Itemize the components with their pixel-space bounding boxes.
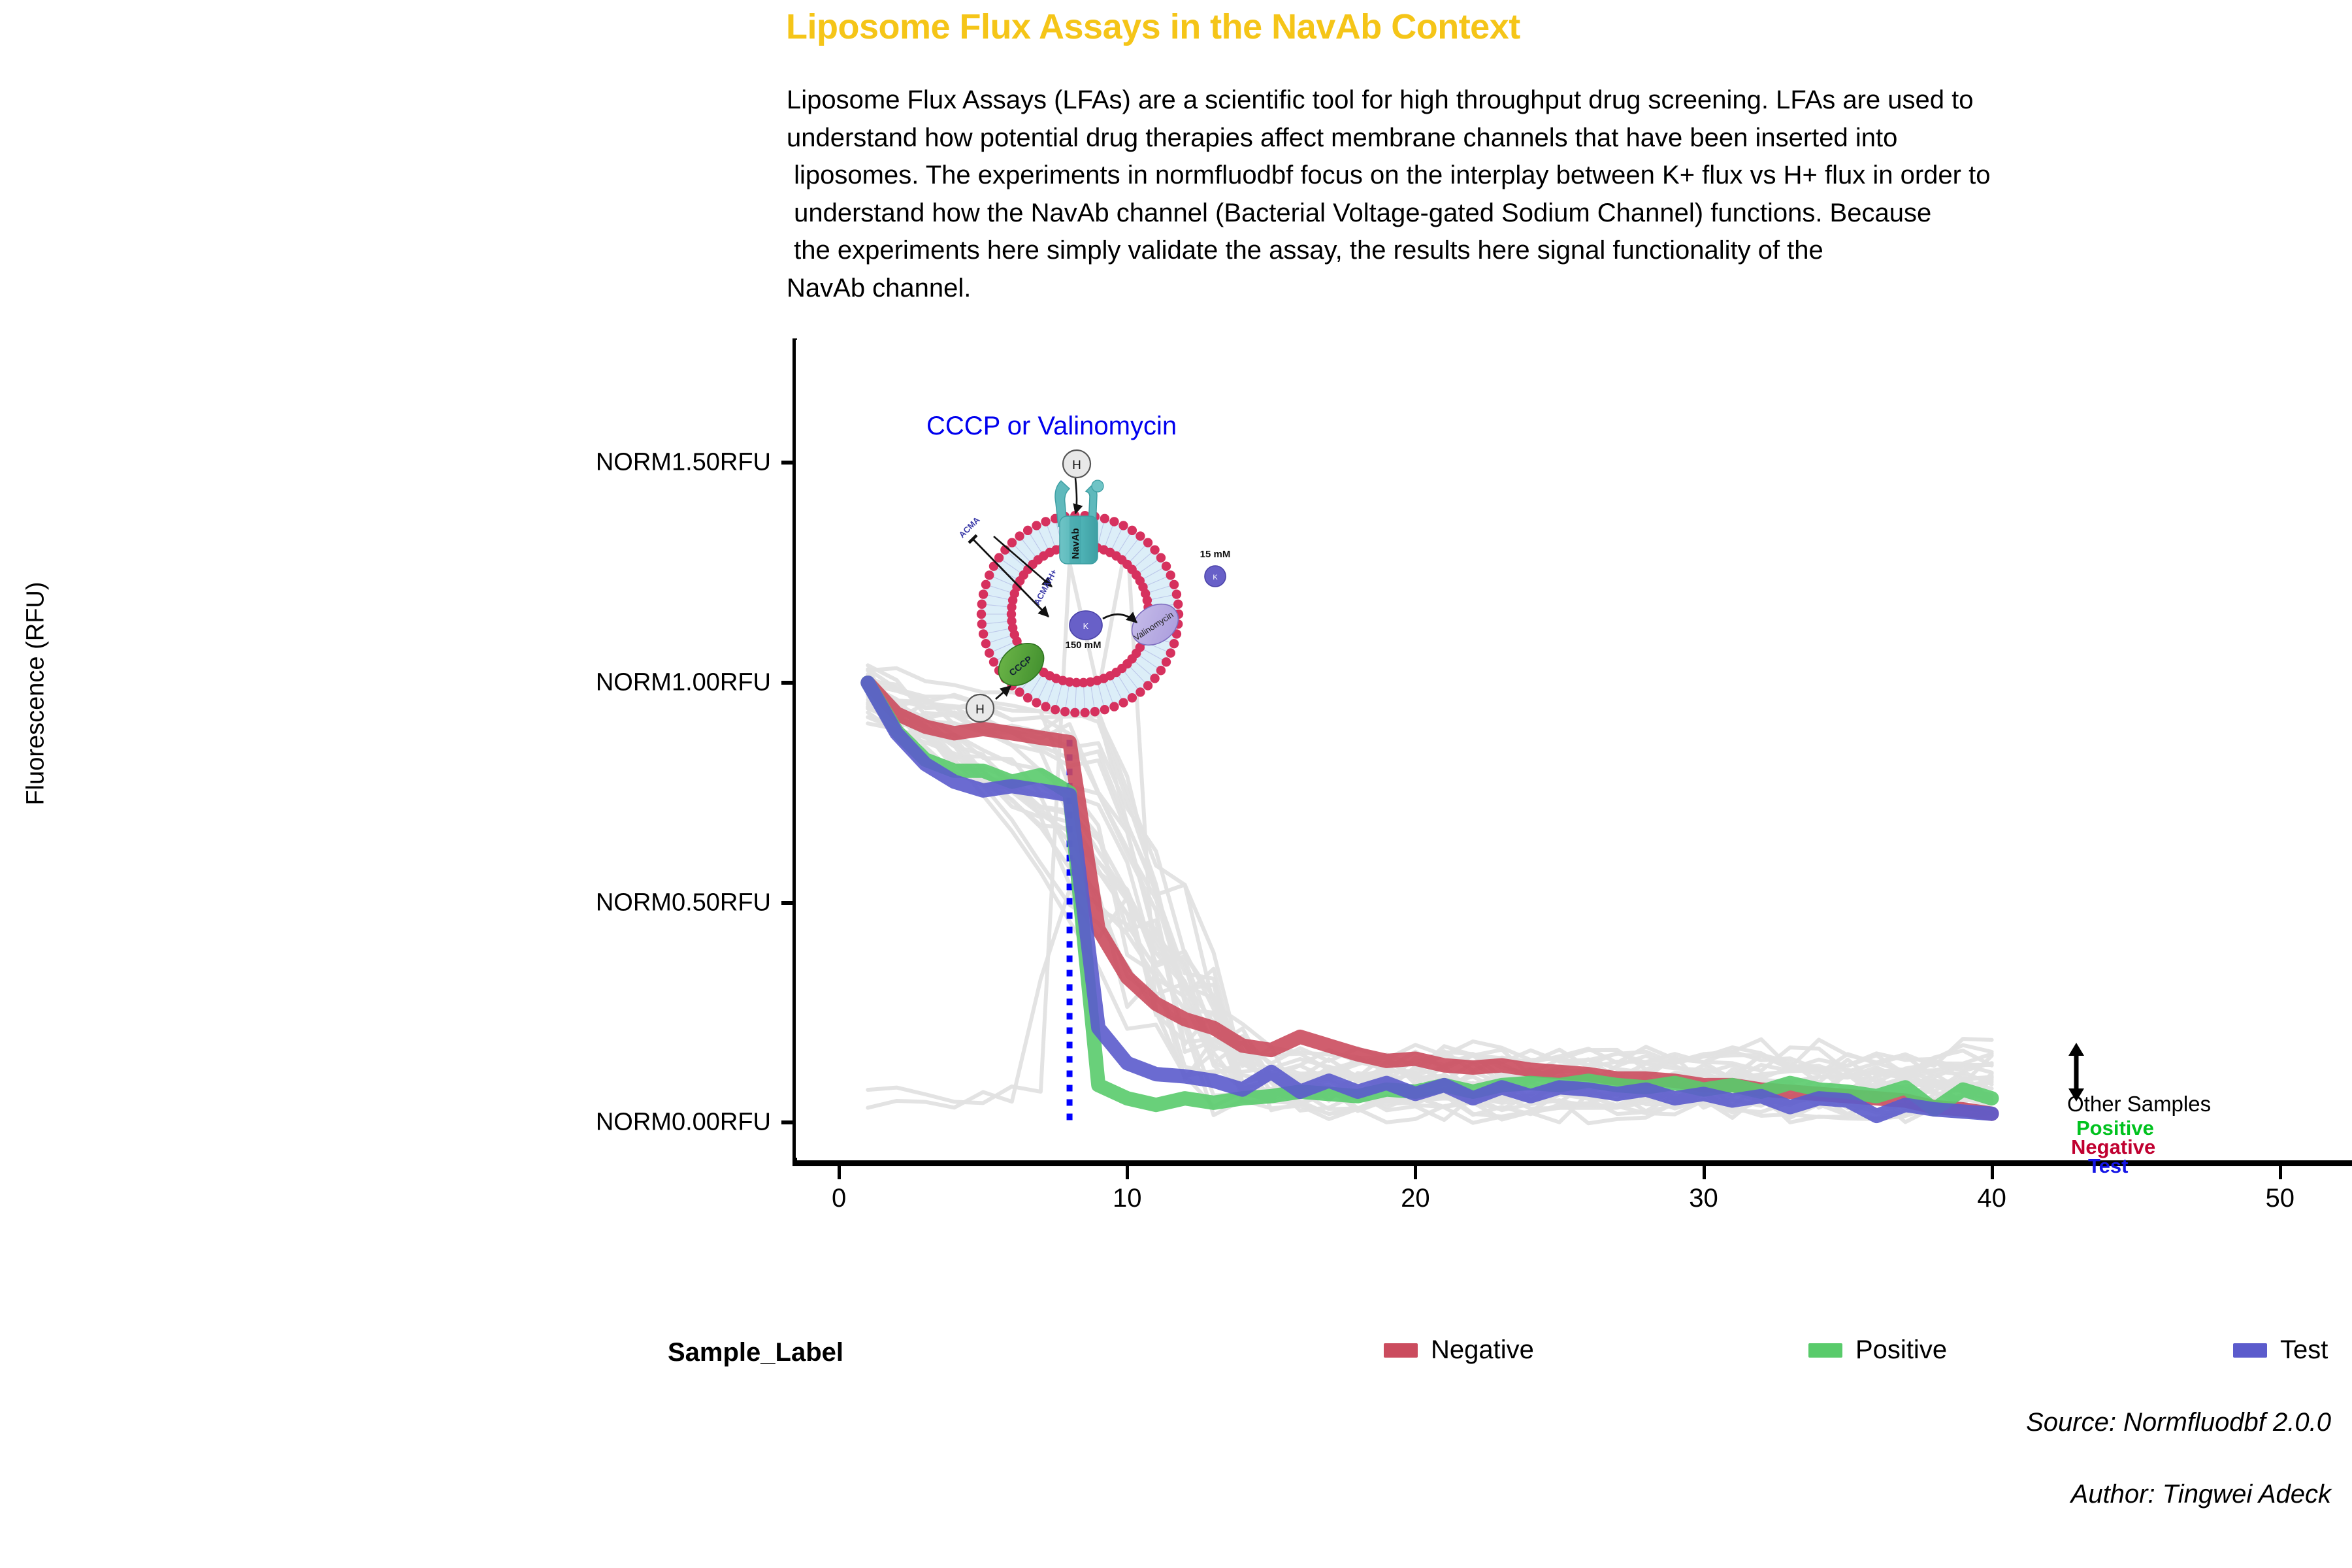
legend-title: Sample_Label (668, 1338, 843, 1367)
k-outside-conc: 15 mM (1200, 549, 1231, 560)
proton-top: H (1063, 450, 1090, 478)
page-title: Liposome Flux Assays in the NavAb Contex… (786, 7, 1520, 47)
potassium-outside: K 15 mM (1200, 549, 1231, 587)
lipid-head (977, 610, 986, 619)
lipid-head (1041, 517, 1050, 526)
lipid-head (1015, 687, 1024, 696)
x-tick-mark (1414, 1166, 1417, 1179)
y-tick-label: NORM1.50RFU (497, 449, 771, 477)
lipid-head (979, 629, 988, 638)
acma-label: ACMA (957, 515, 983, 540)
chart-legend: Sample_Label NegativePositiveTest (0, 1333, 2352, 1385)
lipid-head (981, 639, 990, 648)
y-axis-title: Fluorescence (RFU) (22, 531, 50, 857)
x-tick-mark (1703, 1166, 1706, 1179)
legend-entry-negative[interactable]: Negative (1384, 1335, 1534, 1365)
navab-label: NavAb (1070, 528, 1081, 559)
lipid-head (1080, 708, 1089, 717)
lipid-head (1109, 517, 1119, 526)
annotation-other-samples: Other Samples (2067, 1092, 2211, 1117)
lipid-head (1162, 657, 1171, 666)
lipid-head (985, 570, 994, 580)
lipid-head (1135, 687, 1145, 696)
y-tick-mark (781, 1120, 794, 1124)
lipid-head (1109, 702, 1119, 711)
lipid-head (1143, 538, 1152, 547)
y-tick-mark (781, 681, 794, 685)
x-tick-mark (2279, 1166, 2282, 1179)
lipid-head (981, 580, 990, 589)
lipid-head (1041, 702, 1050, 711)
lipid-head (1032, 521, 1041, 530)
y-tick-mark (781, 901, 794, 905)
lipid-head (1156, 666, 1166, 675)
legend-swatch (1808, 1343, 1842, 1358)
lipid-head (1135, 531, 1145, 540)
x-tick-label: 20 (1401, 1184, 1430, 1213)
proton-bottom-label: H (975, 703, 985, 717)
background-trace (868, 693, 1991, 1098)
inset-caption: CCCP or Valinomycin (926, 412, 1177, 441)
lipid-head (994, 553, 1004, 563)
x-tick-label: 30 (1689, 1184, 1718, 1213)
lipid-head (1128, 693, 1137, 702)
lipid-head (1023, 693, 1032, 702)
lipid-head (979, 589, 988, 598)
k-outside-ion: K (1213, 574, 1218, 581)
footer-author: Author: Tingwei Adeck (2071, 1480, 2331, 1509)
y-tick-label: NORM0.50RFU (497, 889, 771, 917)
lipid-head (1090, 707, 1100, 716)
footer-source: Source: Normfluodbf 2.0.0 (2026, 1408, 2331, 1437)
lipid-head (977, 600, 987, 609)
legend-swatch (2233, 1343, 2267, 1358)
lipid-head (1166, 648, 1175, 657)
lipid-head (977, 619, 987, 629)
lipid-head (1173, 600, 1183, 609)
lipid-head (1162, 562, 1171, 571)
x-tick-label: 0 (832, 1184, 846, 1213)
lipid-head (1070, 708, 1079, 717)
lipid-head (985, 648, 994, 657)
annotation-test: Test (2088, 1154, 2128, 1178)
lipid-head (1150, 674, 1159, 683)
lipid-head (1032, 698, 1041, 707)
lipid-head (1100, 514, 1109, 523)
lipid-head (1143, 681, 1152, 690)
k-inside-ion: K (1083, 621, 1089, 631)
x-tick-mark (838, 1166, 841, 1179)
potassium-inside: K 150 mM (1065, 611, 1137, 651)
background-trace (868, 695, 1991, 1083)
x-tick-label: 40 (1977, 1184, 2006, 1213)
lipid-head (1128, 526, 1137, 535)
background-trace (868, 707, 1991, 1077)
lipid-head (1166, 570, 1175, 580)
lipid-head (989, 657, 998, 666)
x-tick-label: 50 (2265, 1184, 2295, 1213)
lipid-head (1119, 521, 1128, 530)
proton-top-label: H (1072, 459, 1081, 472)
legend-entry-positive[interactable]: Positive (1808, 1335, 1947, 1365)
chart-description: Liposome Flux Assays (LFAs) are a scient… (787, 82, 2352, 308)
lipid-head (1169, 580, 1179, 589)
proton-bottom: H (966, 686, 1011, 722)
y-tick-label: NORM0.00RFU (497, 1109, 771, 1137)
x-tick-label: 10 (1113, 1184, 1142, 1213)
lipid-head (1100, 705, 1109, 714)
lipid-head (1169, 639, 1179, 648)
legend-entry-test[interactable]: Test (2233, 1335, 2328, 1365)
background-trace (868, 700, 1991, 1099)
lipid-head (1119, 698, 1128, 707)
x-tick-mark (1991, 1166, 1994, 1179)
lipid-head (1051, 705, 1060, 714)
legend-label: Positive (1855, 1335, 1947, 1365)
background-trace (868, 696, 1991, 1100)
legend-label: Test (2280, 1335, 2328, 1365)
y-tick-label: NORM1.00RFU (497, 669, 771, 697)
k-inside-conc: 150 mM (1065, 640, 1101, 651)
legend-swatch (1384, 1343, 1418, 1358)
lipid-head (1007, 538, 1017, 547)
lipid-head (1015, 531, 1024, 540)
x-tick-mark (1126, 1166, 1129, 1179)
lipid-head (1023, 526, 1032, 535)
navab-channel: NavAb (1055, 478, 1103, 564)
liposome-diagram: NavAb H H CCCP Valinomycin K 150 mM K 15… (946, 439, 1273, 746)
y-tick-mark (781, 461, 794, 465)
lipid-head (1172, 589, 1181, 598)
legend-label: Negative (1431, 1335, 1534, 1365)
background-trace (868, 702, 1991, 1091)
lipid-head (1156, 553, 1166, 563)
lipid-head (1060, 707, 1070, 716)
lipid-head (1150, 545, 1159, 554)
